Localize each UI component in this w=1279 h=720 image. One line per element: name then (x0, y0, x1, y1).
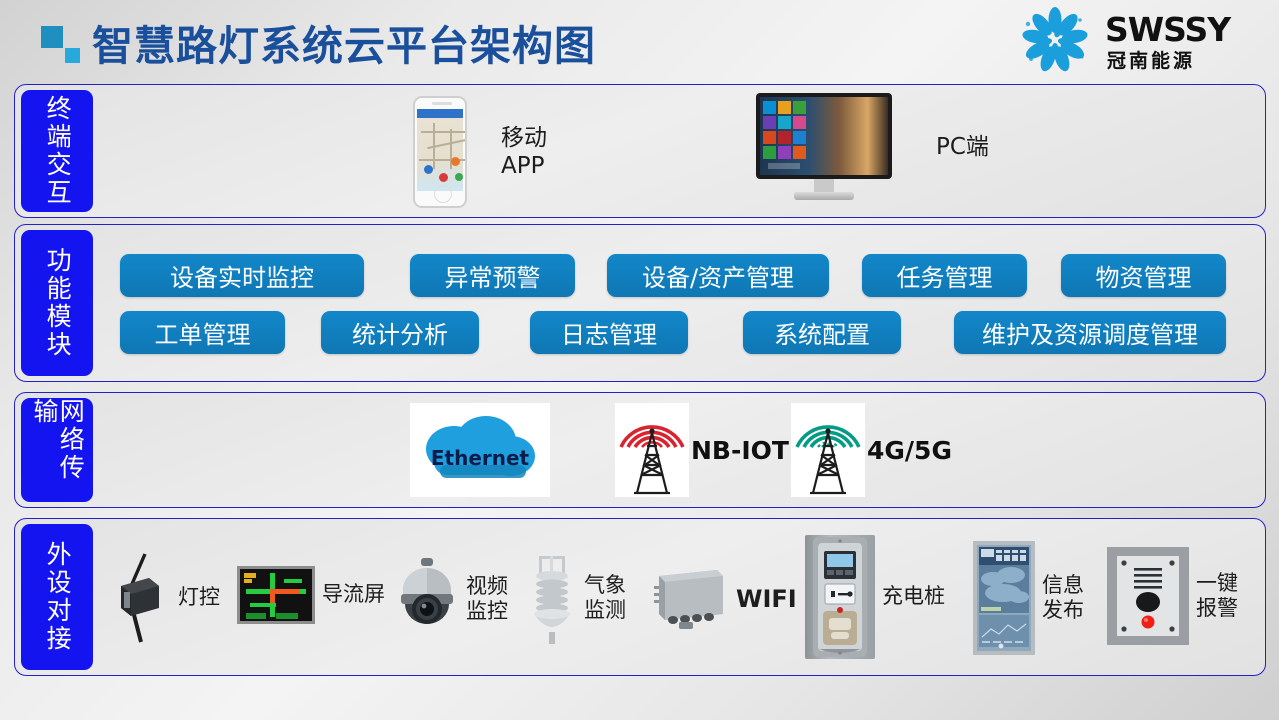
lamp-controller-icon (115, 550, 171, 646)
brand-subtitle: 冠南能源 (1107, 46, 1195, 73)
device-item-charging-pile[interactable]: 充电桩 (805, 535, 945, 659)
brand-logo: SWSSY 冠南能源 (1009, 4, 1265, 76)
weather-sensor-icon (527, 550, 577, 646)
page-header: 智慧路灯系统云平台架构图 (0, 0, 1279, 78)
panel-network-transmission: 网络传输 Ethernet (14, 392, 1266, 508)
wifi-box-icon (649, 566, 729, 632)
device-item-emergency-alarm[interactable]: 一键 报警 (1107, 547, 1238, 645)
brand-name: SWSSY (1105, 10, 1230, 49)
fn-button-abnormal-alert[interactable]: 异常预警 (410, 254, 575, 297)
device-label-wifi: WIFI (736, 585, 797, 614)
fn-button-device-monitoring[interactable]: 设备实时监控 (120, 254, 364, 297)
row-label-function: 功能模块 (21, 230, 93, 376)
radio-tower-icon (615, 403, 689, 497)
page-title: 智慧路灯系统云平台架构图 (92, 12, 596, 72)
row-label-terminal: 终端交互 (21, 90, 93, 212)
fn-button-system-config[interactable]: 系统配置 (743, 311, 901, 354)
row-label-device: 外设对接 (21, 524, 93, 670)
row-label-network: 网络传输 (21, 398, 93, 502)
fn-button-statistics[interactable]: 统计分析 (321, 311, 479, 354)
fn-button-log-management[interactable]: 日志管理 (530, 311, 688, 354)
device-label-video-camera: 视频 监控 (466, 574, 508, 624)
ptz-camera-icon (395, 556, 459, 642)
network-label-4g5g: 4G/5G (867, 436, 952, 465)
panel-terminal-interaction: 终端交互 (14, 84, 1266, 218)
water-droplet-petals-icon (1009, 6, 1101, 74)
radio-tower-icon (791, 403, 865, 497)
charging-pile-icon (805, 535, 875, 659)
device-label-info-display: 信息 发布 (1042, 573, 1084, 623)
terminal-label-mobile-app: 移动 APP (501, 124, 547, 180)
mobile-phone-map-icon (413, 96, 467, 208)
fn-button-asset-management[interactable]: 设备/资产管理 (607, 254, 829, 297)
guidance-screen-icon (237, 566, 315, 624)
device-item-weather-sensor[interactable]: 气象 监测 (527, 550, 626, 646)
network-item-nbiot[interactable]: NB-IOT (615, 403, 789, 497)
desktop-monitor-icon (756, 93, 892, 201)
emergency-alarm-icon (1107, 547, 1189, 645)
device-item-info-display[interactable]: 信息 发布 (973, 541, 1084, 655)
info-display-icon (973, 541, 1035, 655)
device-label-lamp-controller: 灯控 (178, 585, 220, 610)
panel-function-modules: 功能模块 设备实时监控 异常预警 设备/资产管理 任务管理 物资管理 工单管理 … (14, 224, 1266, 382)
network-item-4g5g[interactable]: 4G/5G (791, 403, 952, 497)
device-label-emergency-alarm: 一键 报警 (1196, 571, 1238, 621)
device-item-lamp-controller[interactable]: 灯控 (115, 550, 220, 646)
fn-button-work-order[interactable]: 工单管理 (120, 311, 285, 354)
device-label-guidance-screen: 导流屏 (322, 582, 385, 607)
fn-button-maintenance-scheduling[interactable]: 维护及资源调度管理 (954, 311, 1226, 354)
network-label-nbiot: NB-IOT (691, 436, 789, 465)
device-item-wifi[interactable]: WIFI (649, 566, 797, 632)
terminal-item-mobile-app[interactable]: 移动 APP (413, 96, 547, 208)
device-label-charging-pile: 充电桩 (882, 584, 945, 609)
network-item-ethernet[interactable]: Ethernet (410, 403, 550, 497)
architecture-diagram: 智慧路灯系统云平台架构图 (0, 0, 1279, 720)
terminal-item-pc[interactable]: PC端 (756, 93, 989, 201)
two-squares-icon (41, 26, 85, 64)
svg-text:Ethernet: Ethernet (431, 446, 530, 470)
device-item-video-camera[interactable]: 视频 监控 (395, 556, 508, 642)
fn-button-task-management[interactable]: 任务管理 (862, 254, 1027, 297)
panel-peripheral-devices: 外设对接 灯控 (14, 518, 1266, 676)
cloud-icon: Ethernet (410, 403, 550, 497)
fn-button-material-management[interactable]: 物资管理 (1061, 254, 1226, 297)
terminal-label-pc: PC端 (936, 133, 989, 161)
device-label-weather-sensor: 气象 监测 (584, 573, 626, 623)
device-item-guidance-screen[interactable]: 导流屏 (237, 566, 385, 624)
